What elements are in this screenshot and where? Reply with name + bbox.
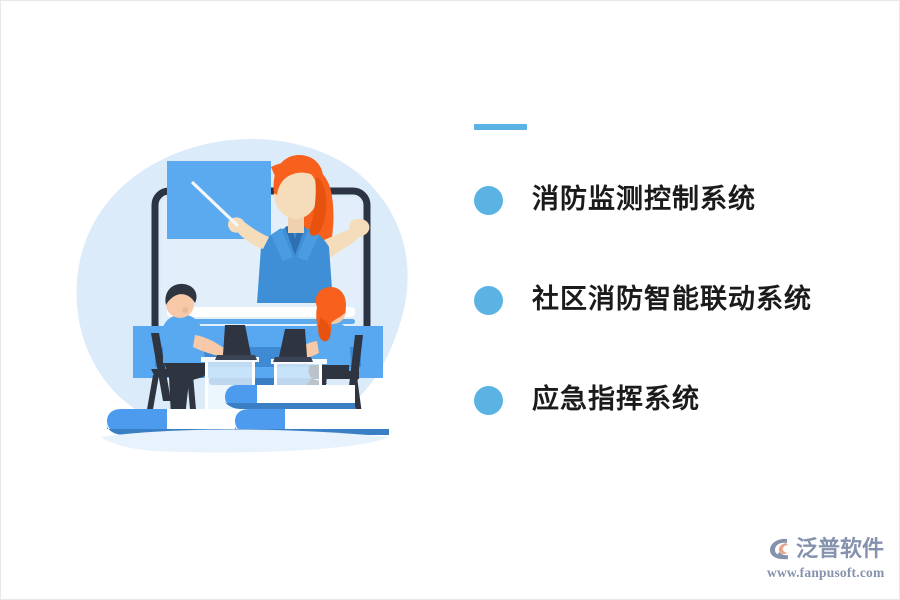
slide-canvas: 消防监测控制系统 社区消防智能联动系统 应急指挥系统 泛普软件 www.fanp… [0,0,900,600]
feature-label-2: 社区消防智能联动系统 [532,285,812,315]
watermark-brand-text: 泛普软件 [796,536,884,562]
feature-item-3[interactable]: 应急指挥系统 [474,369,884,431]
accent-bar [474,124,527,130]
feature-label-3: 应急指挥系统 [532,385,700,415]
left-desk-leg-a [205,362,208,416]
feature-list: 消防监测控制系统 社区消防智能联动系统 应急指挥系统 [474,169,884,431]
online-classroom-illustration [59,121,449,461]
watermark-brand-row: 泛普软件 [767,534,893,564]
presentation-board [167,161,271,239]
bullet-dot-icon [474,186,503,215]
left-laptop-base [215,355,257,360]
bullet-dot-icon [474,386,503,415]
fanpu-logo-icon [767,536,793,562]
right-laptop-base [273,357,313,362]
feature-item-1[interactable]: 消防监测控制系统 [474,169,884,231]
feature-label-1: 消防监测控制系统 [532,185,756,215]
book-3-shadow [225,402,355,409]
watermark-url-text: www.fanpusoft.com [767,565,893,581]
bullet-dot-icon [474,286,503,315]
watermark: 泛普软件 www.fanpusoft.com [767,534,893,586]
feature-item-2[interactable]: 社区消防智能联动系统 [474,269,884,331]
